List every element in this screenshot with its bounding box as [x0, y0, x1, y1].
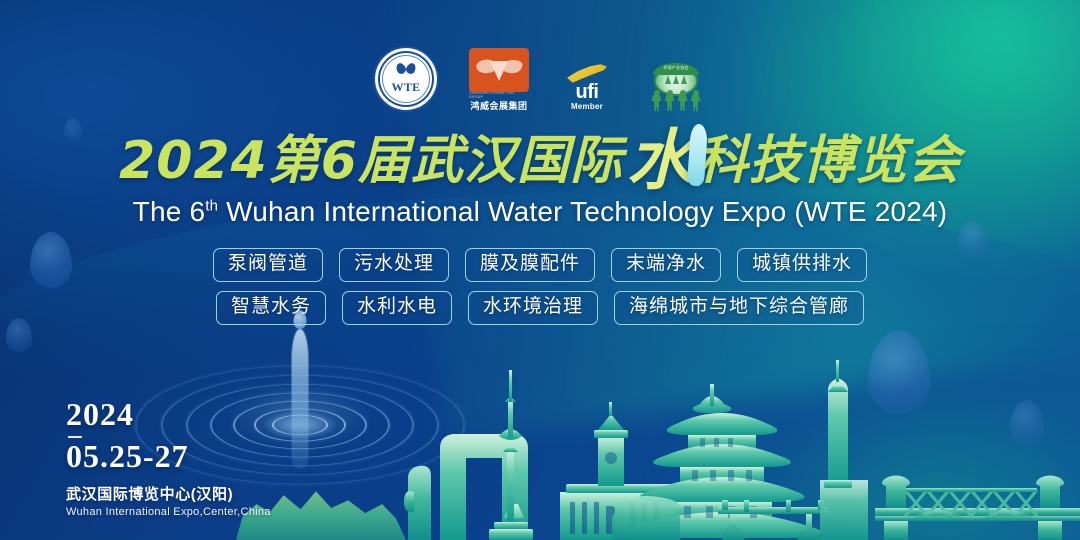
title-cn-part1: 2024第6届武汉国际 [119, 135, 623, 187]
category-tag-row-2: 智慧水务 水利水电 水环境治理 海绵城市与地下综合管廊 [0, 291, 1080, 325]
category-tag[interactable]: 污水处理 [339, 248, 449, 282]
category-tag[interactable]: 海绵城市与地下综合管廊 [614, 291, 864, 325]
subtitle-ordinal: th [205, 198, 218, 215]
category-tag[interactable]: 水环境治理 [468, 291, 598, 325]
wte-seal-logo: WTE [373, 46, 439, 112]
green-association-logo: 环保产业协会 [645, 66, 707, 112]
wte-logo-text: WTE [392, 81, 421, 93]
venue-name-cn: 武汉国际博览中心(汉阳) [66, 483, 271, 504]
page-title: 2024第6届武汉国际水科技博览会 [0, 128, 1080, 194]
category-tag[interactable]: 智慧水务 [216, 291, 326, 325]
water-drop-hearts-icon [397, 63, 416, 74]
category-tag[interactable]: 水利水电 [342, 291, 452, 325]
event-date-venue: 2024 05.25-27 武汉国际博览中心(汉阳) Wuhan Interna… [66, 398, 271, 518]
title-water-glyph: 水 [627, 128, 694, 194]
hongwei-logo: SHANGWEI EXHIBITION GROUP 鸿威会展集团 [469, 48, 529, 112]
subtitle-prefix: The 6 [133, 196, 206, 227]
ufi-member-logo: ufi Member [559, 63, 615, 112]
category-tag[interactable]: 泵阀管道 [213, 248, 323, 282]
page-subtitle: The 6th Wuhan International Water Techno… [0, 196, 1080, 228]
water-splash-column [292, 329, 309, 469]
title-cn-part2: 科技博览会 [696, 135, 961, 187]
category-tag[interactable]: 城镇供排水 [737, 248, 867, 282]
expo-banner: WTE SHANGWEI EXHIBITION GROUP 鸿威会展集团 ufi… [0, 0, 1080, 540]
ufi-wing-icon [567, 63, 607, 83]
ufi-member-text: Member [571, 102, 603, 112]
emblem-arc-text: 环保产业协会 [653, 65, 699, 71]
ufi-logo-text: ufi [576, 83, 599, 102]
category-tag-row-1: 泵阀管道 污水处理 膜及膜配件 末端净水 城镇供排水 [0, 248, 1080, 282]
hongwei-logo-en: SHANGWEI EXHIBITION GROUP [469, 92, 529, 99]
category-tag[interactable]: 膜及膜配件 [465, 248, 595, 282]
venue-name-en: Wuhan International Expo,Center,China [66, 506, 271, 518]
category-tag[interactable]: 末端净水 [611, 248, 721, 282]
wte-seal-icon: WTE [373, 46, 439, 112]
sponsor-logo-row: WTE SHANGWEI EXHIBITION GROUP 鸿威会展集团 ufi… [0, 36, 1080, 112]
subtitle-rest: Wuhan International Water Technology Exp… [218, 196, 947, 227]
winged-w-icon [469, 48, 529, 92]
hongwei-logo-cn: 鸿威会展集团 [470, 102, 527, 112]
date-divider [68, 436, 82, 438]
event-year: 2024 [66, 398, 271, 432]
category-tag-list: 泵阀管道 污水处理 膜及膜配件 末端净水 城镇供排水 智慧水务 水利水电 水环境… [0, 248, 1080, 334]
event-dates: 05.25-27 [66, 440, 271, 474]
